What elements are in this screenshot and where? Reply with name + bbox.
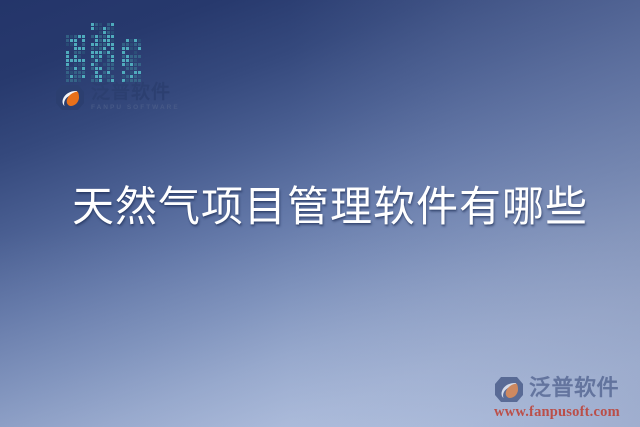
brand-logo: 泛普软件 FANPU SOFTWARE: [55, 83, 180, 112]
brand-text-block: 泛普软件 FANPU SOFTWARE: [91, 83, 180, 112]
promo-banner: 泛普软件 FANPU SOFTWARE 天然气项目管理软件有哪些 泛普软件 ww…: [0, 0, 640, 427]
watermark: 泛普软件 www.fanpusoft.com: [494, 376, 634, 420]
fanpu-hexagon-swoosh-logo-icon: [55, 84, 85, 111]
watermark-brand-name: 泛普软件: [529, 378, 619, 400]
brand-name-cn: 泛普软件: [91, 83, 180, 102]
watermark-url: www.fanpusoft.com: [494, 405, 634, 420]
cityscape-pixel-towers-icon: [66, 22, 142, 82]
page-title: 天然气项目管理软件有哪些: [72, 183, 588, 230]
brand-name-en: FANPU SOFTWARE: [91, 105, 180, 112]
skyline-tower-right: [122, 39, 142, 82]
watermark-logo-row: 泛普软件: [494, 376, 634, 403]
skyline-tower-left: [66, 35, 86, 82]
skyline-tower-center: [91, 23, 117, 82]
fanpu-hexagon-swoosh-logo-icon: [494, 376, 524, 403]
